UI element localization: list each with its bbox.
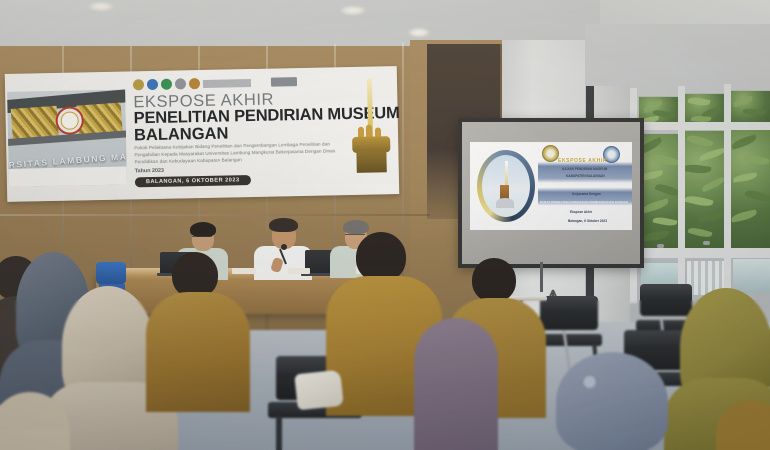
projection-screen: EKSPOSE AKHIR KAJIAN PENDIRIAN MUSEUM KA…	[458, 118, 644, 268]
panel-seam-horizontal	[0, 214, 430, 216]
presentation-slide: EKSPOSE AKHIR KAJIAN PENDIRIAN MUSEUM KA…	[470, 142, 632, 230]
banner-date-pill: BALANGAN, 6 OKTOBER 2023	[135, 175, 251, 187]
blue-stacking-chair[interactable]	[96, 262, 126, 284]
slide-line7: Balangan, 6 Oktober 2023	[568, 219, 607, 223]
logo-partner	[271, 77, 297, 87]
window-rail	[628, 122, 770, 130]
window-handle[interactable]	[703, 241, 710, 245]
window-lower	[732, 258, 770, 294]
slide-line4: Kerjasama Dengan	[572, 192, 601, 196]
logo-icon	[147, 79, 158, 90]
logo-icon	[133, 79, 144, 90]
window-mullion	[724, 84, 731, 299]
slide-photo-oval	[477, 150, 535, 222]
logo-wordmark	[203, 79, 251, 88]
projection-surface: EKSPOSE AKHIR KAJIAN PENDIRIAN MUSEUM KA…	[462, 122, 640, 264]
banner-year: Tahun 2023	[135, 168, 164, 175]
banner-monument-illustration	[347, 78, 395, 185]
banner-logo-row	[133, 76, 297, 90]
slide-line2: KABUPATEN BALANGAN	[566, 174, 605, 178]
banner-building-photo: RSITAS LAMBUNG MANG	[7, 90, 127, 187]
slide-title: EKSPOSE AKHIR	[558, 158, 607, 164]
downlight-icon	[88, 2, 114, 11]
window-transom	[730, 90, 770, 124]
slide-line3: DINAS PENDIDIKAN DAN KEBUDAYAAN KABUPATE…	[539, 182, 632, 186]
logo-icon	[189, 78, 200, 89]
slide-line1: KAJIAN PENDIRIAN MUSEUM	[562, 167, 607, 171]
banner-sub3: Pendidikan dan Kebudayaan Kabupaten Bala…	[134, 157, 241, 164]
window-mullion	[678, 86, 685, 301]
event-banner: RSITAS LAMBUNG MANG EKSPOSE AKHIR PENELI…	[5, 66, 399, 202]
window-sill	[628, 248, 770, 258]
downlight-icon	[408, 28, 430, 37]
logo-icon	[175, 78, 186, 89]
slide-line5: PUSAT PENELITIAN KEBIJAKAN PEMBANGUNAN D…	[540, 200, 628, 204]
slide-emblem-left-icon	[542, 145, 559, 162]
banner-line3: BALANGAN	[134, 124, 229, 145]
logo-icon	[161, 79, 172, 90]
window-pane	[730, 127, 770, 249]
white-bag	[294, 370, 344, 411]
downlight-icon	[340, 6, 366, 15]
microphone-icon	[281, 244, 287, 250]
seminar-room-photo: RSITAS LAMBUNG MANG EKSPOSE AKHIR PENELI…	[0, 0, 770, 450]
slide-line6: Ekspose Akhir	[570, 210, 592, 214]
